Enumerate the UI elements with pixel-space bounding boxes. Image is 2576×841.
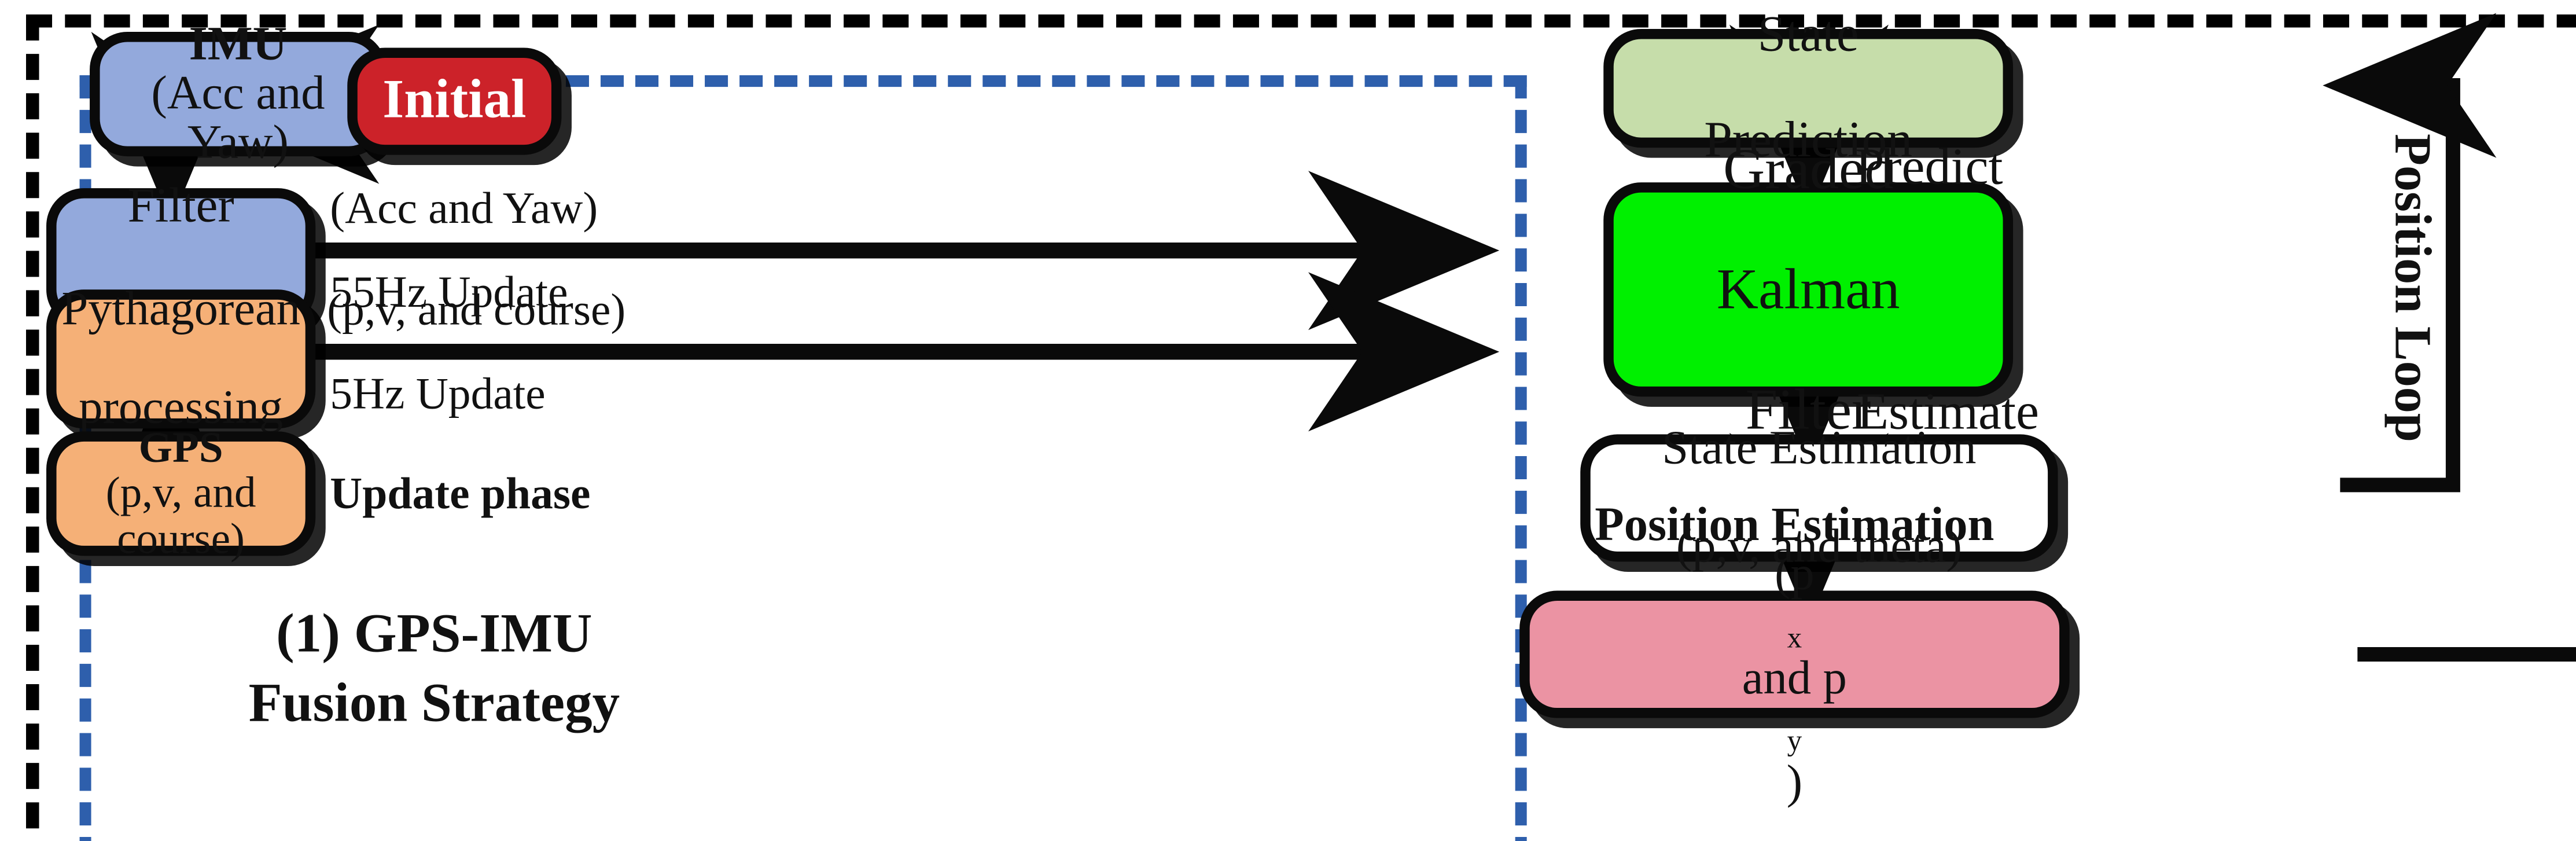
node-pythagorean-line1: Pythagorean (53, 285, 309, 335)
node-state-prediction[interactable]: State Prediction (1603, 29, 2013, 148)
node-position-estimation-line1: Position Estimation (1595, 500, 1994, 552)
edge-label-pv-course: (p,v, and course) (327, 287, 625, 333)
node-position-estimation[interactable]: Position Estimation (px and py) (1519, 590, 2069, 718)
edge-label-predict: Predict (1855, 141, 2003, 196)
panel-left-caption-line2: Fusion Strategy (123, 670, 745, 739)
node-initial-label: Initial (374, 73, 535, 130)
node-filter-line1: Filter (65, 181, 296, 232)
node-gps-line1: GPS (139, 424, 223, 472)
node-position-estimation-line2: (px and py) (1595, 550, 1994, 807)
node-state-prediction-line1: State (1695, 9, 1921, 62)
edge-label-estimate: Estimate (1857, 385, 2039, 440)
edge-label-update-phase: Update phase (330, 471, 590, 517)
node-imu-line2: (Acc and Yaw) (151, 68, 325, 170)
panel-left-caption: (1) GPS-IMU Fusion Strategy (123, 601, 745, 739)
edge-label-position-loop: Position Loop (2384, 134, 2439, 442)
diagram-canvas: IMU (Acc and Yaw) Initial Filter Process… (0, 0, 2576, 841)
node-kalman-line2: Kalman (1708, 259, 1909, 319)
node-imu-line1: IMU (189, 18, 288, 70)
node-graded-kalman-filter[interactable]: Graded Kalman Filter (1603, 182, 2013, 396)
edge-label-5hz: 5Hz Update (330, 370, 545, 417)
node-initial[interactable]: Initial (347, 48, 561, 155)
node-gps-line2: (p,v, and course) (65, 471, 297, 561)
edge-label-acc-yaw: (Acc and Yaw) (330, 185, 598, 232)
node-pythagorean-processing[interactable]: Pythagorean processing (46, 289, 315, 428)
node-gps[interactable]: GPS (p,v, and course) (46, 431, 315, 556)
panel-left-caption-line1: (1) GPS-IMU (123, 601, 745, 670)
node-imu[interactable]: IMU (Acc and Yaw) (90, 32, 387, 156)
